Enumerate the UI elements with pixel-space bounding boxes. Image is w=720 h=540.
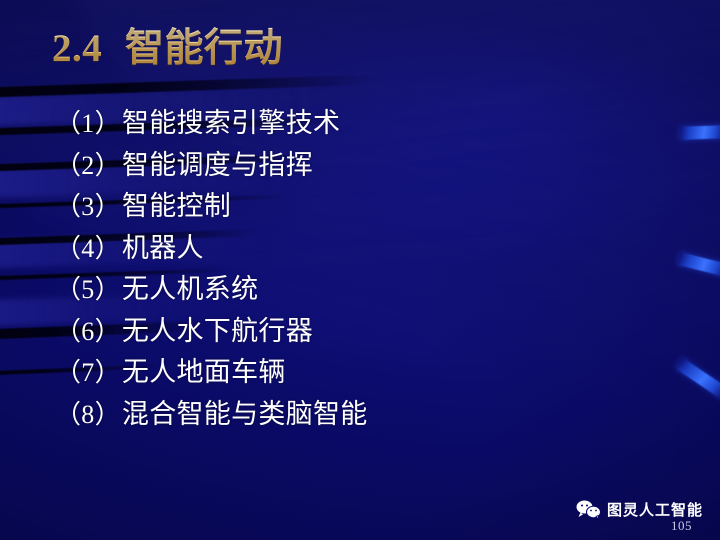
- list-item-marker: （3）: [55, 192, 122, 221]
- list-item-label: 智能调度与指挥: [122, 150, 313, 180]
- watermark-label: 图灵人工智能: [607, 499, 703, 520]
- list-item-marker: （5）: [55, 275, 122, 304]
- page-number: 105: [671, 518, 692, 534]
- list-item: （6）无人水下航行器: [55, 311, 368, 353]
- slide: 2.4 智能行动 （1）智能搜索引擎技术 （2）智能调度与指挥 （3）智能控制 …: [0, 0, 720, 540]
- list-item-marker: （8）: [55, 400, 122, 429]
- list-item-marker: （2）: [55, 151, 122, 180]
- list-item: （1）智能搜索引擎技术: [55, 103, 368, 145]
- list-item: （5）无人机系统: [55, 269, 368, 311]
- list-item: （2）智能调度与指挥: [55, 145, 368, 187]
- slide-title: 2.4 智能行动: [52, 26, 283, 72]
- wechat-icon: [576, 500, 601, 519]
- slide-title-number: 2.4: [52, 27, 102, 70]
- list-item-label: 智能控制: [122, 191, 231, 221]
- list-item-label: 混合智能与类脑智能: [122, 399, 368, 429]
- watermark: 图灵人工智能: [576, 499, 703, 520]
- list-item-label: 无人机系统: [122, 274, 259, 304]
- list-item: （4）机器人: [55, 228, 368, 270]
- slide-title-text: 智能行动: [125, 27, 283, 70]
- list-item-label: 机器人: [122, 233, 204, 263]
- list-item-label: 智能搜索引擎技术: [122, 108, 340, 138]
- list-item: （7）无人地面车辆: [55, 352, 368, 394]
- list-item: （8）混合智能与类脑智能: [55, 394, 368, 436]
- list-item-marker: （1）: [55, 109, 122, 138]
- list-item-marker: （6）: [55, 317, 122, 346]
- list-item-label: 无人地面车辆: [122, 357, 286, 387]
- ribbon-accent-top: [680, 125, 720, 140]
- list-item-marker: （4）: [55, 234, 122, 263]
- slide-bullet-list: （1）智能搜索引擎技术 （2）智能调度与指挥 （3）智能控制 （4）机器人 （5…: [55, 103, 368, 435]
- list-item-label: 无人水下航行器: [122, 316, 313, 346]
- list-item-marker: （7）: [55, 358, 122, 387]
- list-item: （3）智能控制: [55, 186, 368, 228]
